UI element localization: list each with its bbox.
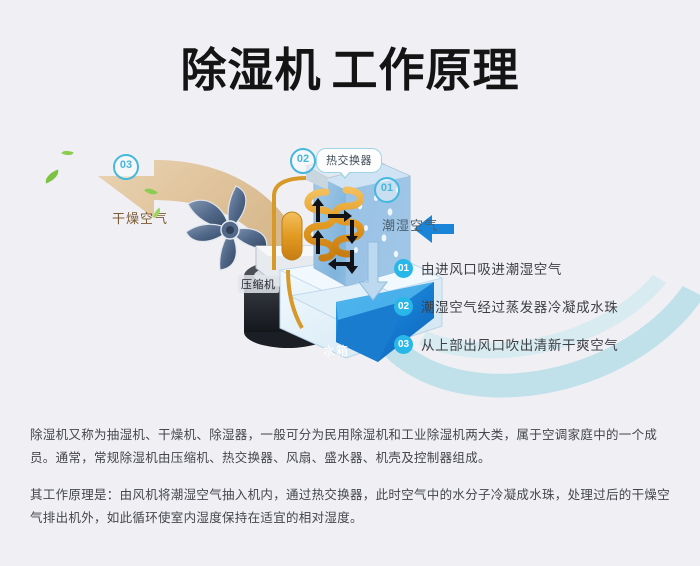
legend-text-03: 从上部出风口吹出清新干爽空气	[421, 334, 618, 354]
legend-badge-01: 01	[394, 259, 413, 278]
diagram-badge-01: 01	[374, 177, 400, 203]
paragraph-1: 除湿机又称为抽湿机、干燥机、除湿器，一般可分为民用除湿机和工业除湿机两大类，属于…	[30, 424, 670, 470]
legend-text-01: 由进风口吸进潮湿空气	[421, 258, 562, 278]
infographic-page: 除湿机工作原理 干燥空气 03	[0, 0, 700, 566]
leaf-icon	[61, 148, 74, 158]
legend-list: 01 由进风口吸进潮湿空气 02 潮湿空气经过蒸发器冷凝成水珠 03 从上部出风…	[394, 258, 674, 354]
page-title: 除湿机工作原理	[0, 34, 700, 100]
legend-badge-03: 03	[394, 335, 413, 354]
page-title-part1: 除湿机	[181, 44, 322, 96]
water-tank-label: 水箱	[323, 342, 349, 359]
legend-item: 01 由进风口吸进潮湿空气	[394, 258, 674, 278]
legend-text-02: 潮湿空气经过蒸发器冷凝成水珠	[421, 296, 618, 316]
heat-exchanger-callout: 热交换器	[316, 148, 382, 173]
legend-item: 03 从上部出风口吹出清新干爽空气	[394, 334, 674, 354]
diagram-badge-03: 03	[113, 154, 139, 180]
humid-air-label: 潮湿空气	[382, 215, 438, 234]
legend-item: 02 潮湿空气经过蒸发器冷凝成水珠	[394, 296, 674, 316]
description-copy: 除湿机又称为抽湿机、干燥机、除湿器，一般可分为民用除湿机和工业除湿机两大类，属于…	[30, 424, 670, 530]
legend-badge-02: 02	[394, 297, 413, 316]
paragraph-2: 其工作原理是：由风机将潮湿空气抽入机内，通过热交换器，此时空气中的水分子冷凝成水…	[30, 484, 670, 530]
compressor-label: 压缩机	[238, 275, 279, 293]
page-title-part2: 工作原理	[332, 44, 520, 96]
diagram-badge-02: 02	[290, 148, 316, 174]
